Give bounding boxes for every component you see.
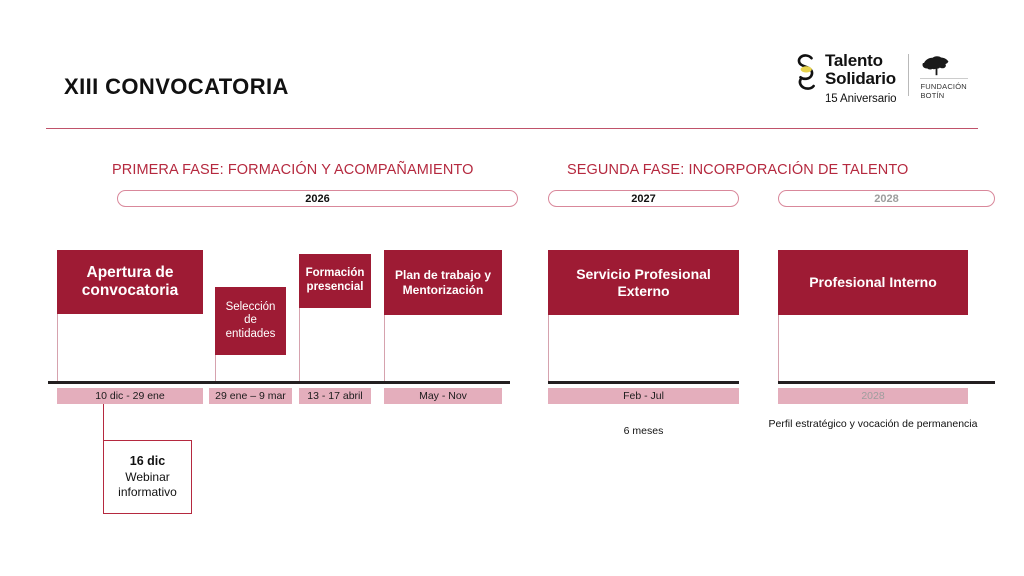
brand-lockup: Talento Solidario 15 Aniversario xyxy=(793,52,896,105)
callout-connector-line xyxy=(103,404,104,440)
callout-text-line-1: Webinar xyxy=(118,470,177,485)
year-pill-2027: 2027 xyxy=(548,190,739,207)
card-title: Selección de entidades xyxy=(215,287,286,355)
card-connector-line xyxy=(215,355,216,381)
phase-2-heading: SEGUNDA FASE: INCORPORACIÓN DE TALENTO xyxy=(567,162,908,178)
brand-line-2: Solidario xyxy=(825,70,896,88)
page-title: XIII CONVOCATORIA xyxy=(64,74,289,100)
date-chip-servicio-profesional-externo: Feb - Jul xyxy=(548,388,739,404)
timeline-axis-phase-2-2028 xyxy=(778,381,995,384)
card-title: Profesional Interno xyxy=(778,250,968,315)
card-connector-line xyxy=(299,308,300,381)
talento-solidario-logo: Talento Solidario 15 Aniversario FUNDACI… xyxy=(793,52,968,105)
anniversary-label: 15 Aniversario xyxy=(825,93,896,105)
card-seleccion-de-entidades: Selección de entidades xyxy=(215,287,286,381)
foundation-divider xyxy=(920,78,968,79)
timeline-axis-phase-2-2027 xyxy=(548,381,739,384)
year-pill-2028: 2028 xyxy=(778,190,995,207)
card-title: Servicio Profesional Externo xyxy=(548,250,739,315)
card-title: Apertura de convocatoria xyxy=(57,250,203,314)
fundacion-botin-lockup: FUNDACIÓN BOTÍN xyxy=(920,52,968,101)
date-chip-seleccion-de-entidades: 29 ene – 9 mar xyxy=(209,388,292,404)
card-connector-line xyxy=(778,315,779,381)
date-chip-profesional-interno: 2028 xyxy=(778,388,968,404)
date-chip-plan-de-trabajo: May - Nov xyxy=(384,388,502,404)
foundation-line-2: BOTÍN xyxy=(920,91,966,100)
card-servicio-profesional-externo: Servicio Profesional Externo xyxy=(548,250,739,381)
card-connector-line xyxy=(57,314,58,381)
timeline-axis-phase-1 xyxy=(48,381,510,384)
logo-divider xyxy=(908,54,909,96)
card-title: Plan de trabajo y Mentorización xyxy=(384,250,502,315)
card-profesional-interno: Profesional Interno xyxy=(778,250,968,381)
callout-text-line-2: informativo xyxy=(118,485,177,500)
callout-date: 16 dic xyxy=(130,454,165,468)
card-apertura-de-convocatoria: Apertura de convocatoria xyxy=(57,250,203,381)
header-divider xyxy=(46,128,978,129)
caption-profesional-interno: Perfil estratégico y vocación de permane… xyxy=(768,417,978,431)
page-header: XIII CONVOCATORIA Talento Solidario 15 A… xyxy=(0,0,1024,130)
caption-servicio-profesional-externo: 6 meses xyxy=(548,424,739,438)
card-plan-de-trabajo-y-mentorizacion: Plan de trabajo y Mentorización xyxy=(384,250,502,381)
callout-text: Webinar informativo xyxy=(118,470,177,500)
brand-text: Talento Solidario 15 Aniversario xyxy=(825,52,896,105)
tree-icon xyxy=(920,54,954,76)
brand-line-1: Talento xyxy=(825,52,896,70)
foundation-name: FUNDACIÓN BOTÍN xyxy=(920,82,966,101)
card-title: Formación presencial xyxy=(299,254,371,308)
year-pill-2026: 2026 xyxy=(117,190,518,207)
talento-solidario-s-icon xyxy=(793,52,819,92)
card-connector-line xyxy=(548,315,549,381)
callout-webinar-informativo: 16 dic Webinar informativo xyxy=(103,440,192,514)
date-chip-apertura-de-convocatoria: 10 dic - 29 ene xyxy=(57,388,203,404)
card-formacion-presencial: Formación presencial xyxy=(299,254,371,381)
card-connector-line xyxy=(384,315,385,381)
date-chip-formacion-presencial: 13 - 17 abril xyxy=(299,388,371,404)
foundation-line-1: FUNDACIÓN xyxy=(920,82,966,91)
phase-1-heading: PRIMERA FASE: FORMACIÓN Y ACOMPAÑAMIENTO xyxy=(112,162,473,178)
